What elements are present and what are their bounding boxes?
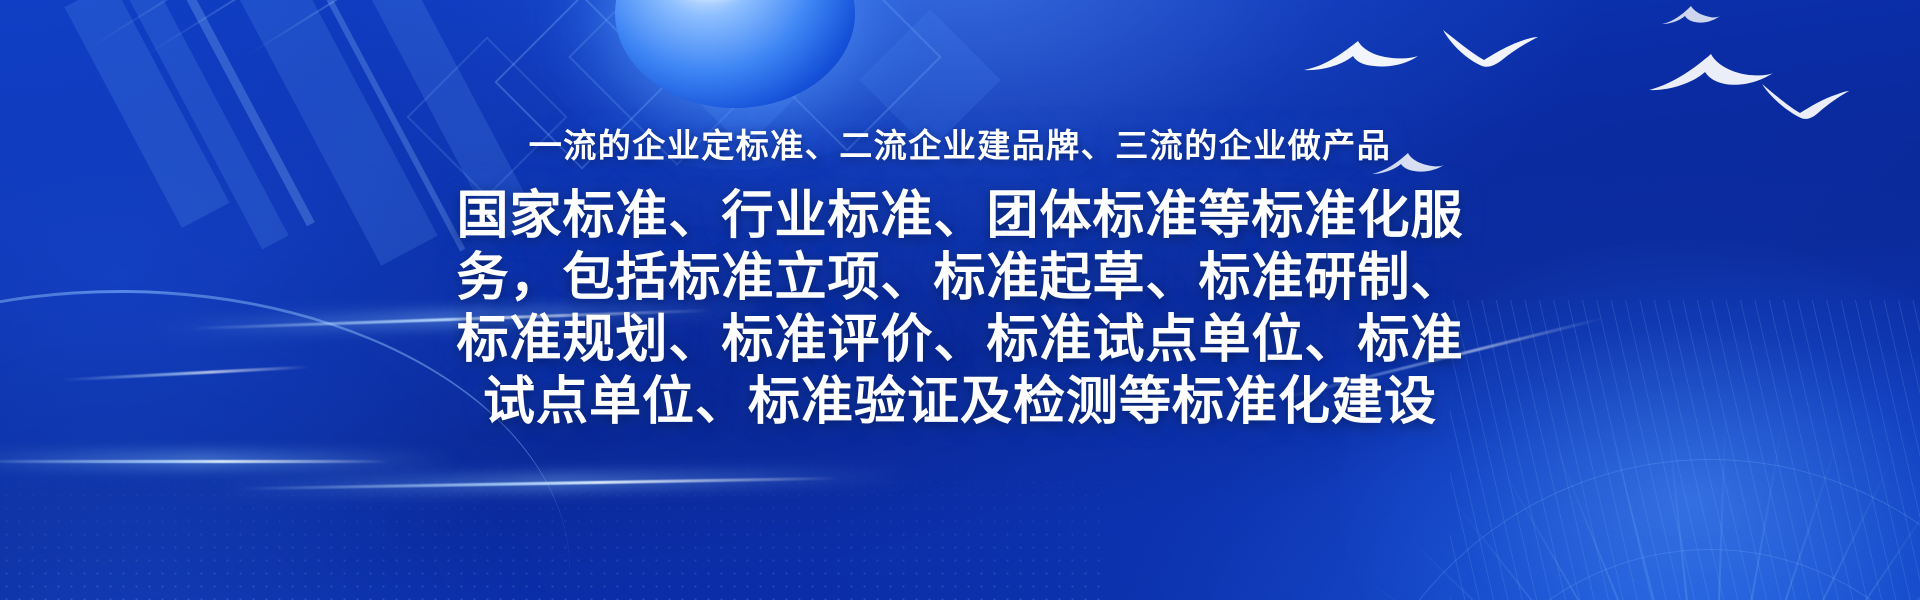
banner-body-text: 国家标准、行业标准、团体标准等标准化服务，包括标准立项、标准起草、标准研制、标准… [445, 185, 1475, 433]
promo-banner: 一流的企业定标准、二流企业建品牌、三流的企业做产品 国家标准、行业标准、团体标准… [0, 0, 1920, 600]
banner-text-content: 一流的企业定标准、二流企业建品牌、三流的企业做产品 国家标准、行业标准、团体标准… [0, 0, 1920, 600]
banner-headline: 一流的企业定标准、二流企业建品牌、三流的企业做产品 [0, 119, 1920, 167]
